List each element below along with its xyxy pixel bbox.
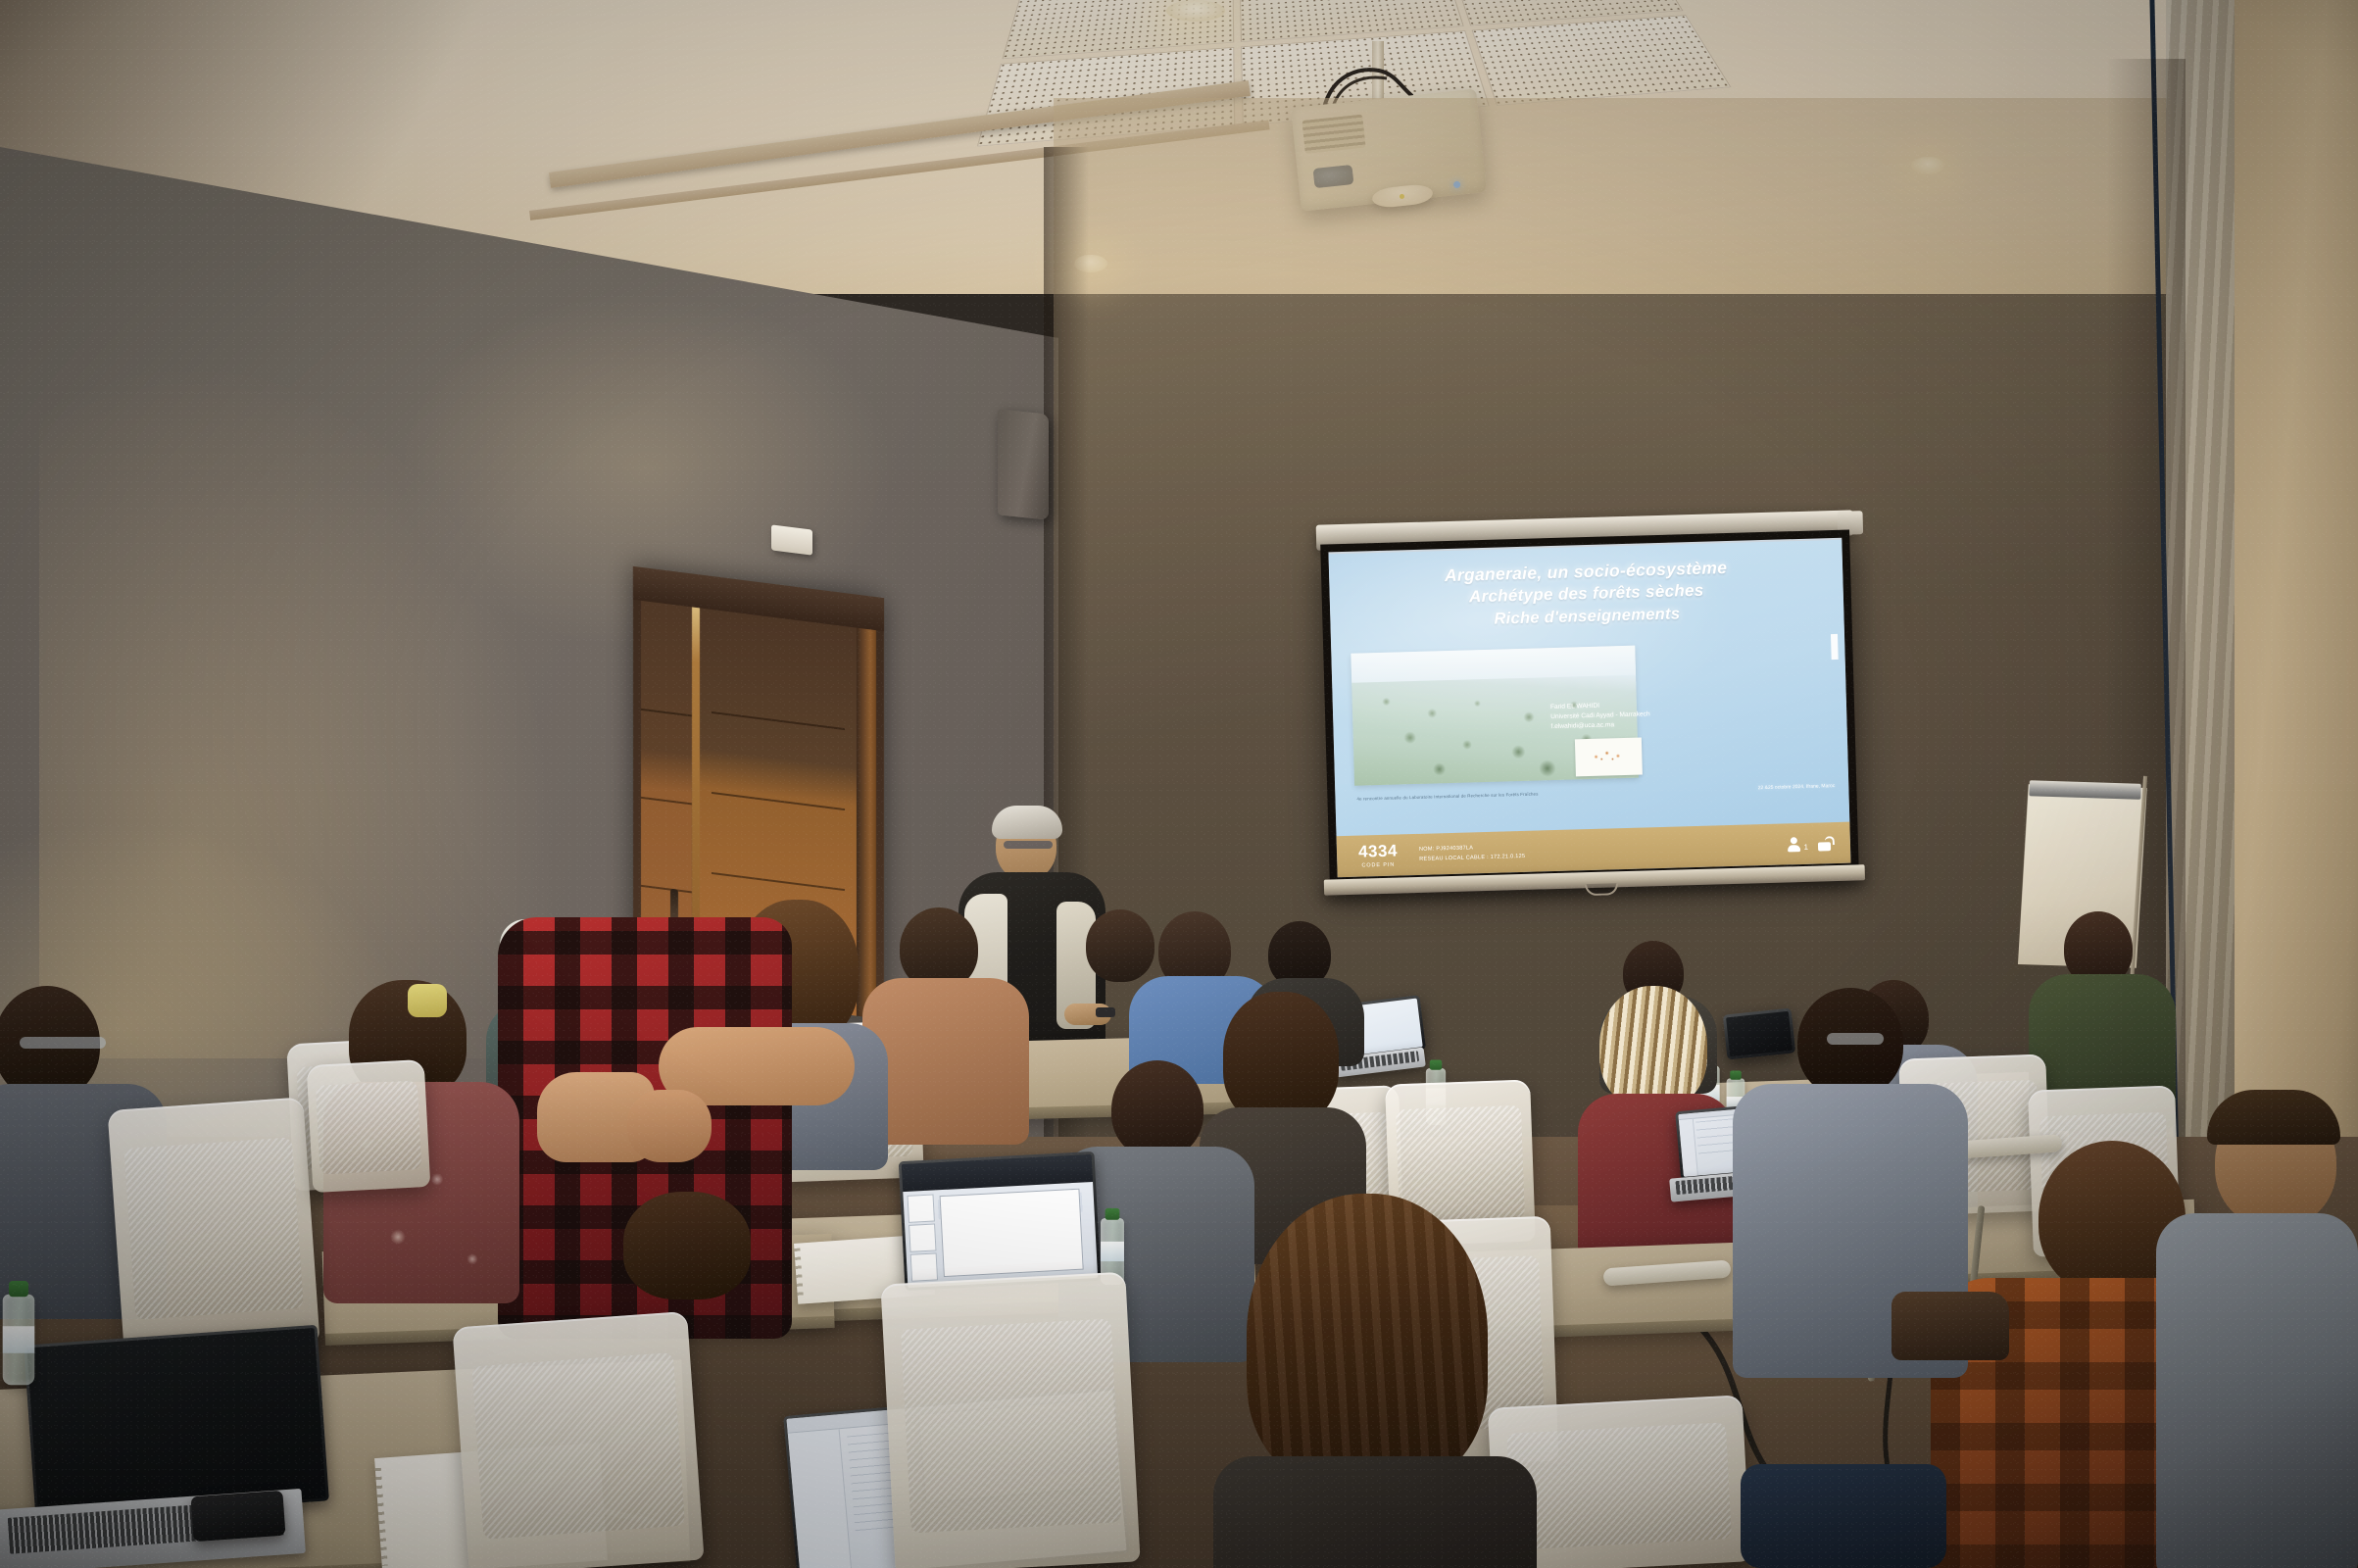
connected-user-count: 1 <box>1803 842 1808 851</box>
presenter-glasses <box>1004 841 1053 849</box>
bottle[interactable] <box>3 1295 35 1386</box>
screen-pull-hook[interactable] <box>1585 883 1618 896</box>
audience-hair <box>2207 1090 2340 1145</box>
screen-frame: Arganeraie, un socio-écosystème Archétyp… <box>1320 530 1859 886</box>
chair[interactable] <box>307 1059 431 1193</box>
laptop-presentation-editor[interactable] <box>899 1151 1102 1291</box>
foreground-hair <box>1247 1194 1488 1488</box>
unlocked-padlock-icon <box>1818 836 1835 851</box>
slide-photo-caption: 4e rencontre annuelle du Laboratoire Int… <box>1356 788 1650 801</box>
projector-pin-block: 4334 CODE PIN <box>1337 842 1420 870</box>
audience-member <box>1068 909 1176 1027</box>
slide-logo <box>1575 738 1643 777</box>
projector-osd-icons: 1 <box>1787 835 1850 852</box>
user-icon <box>1787 837 1799 852</box>
presenter-hair <box>992 806 1062 839</box>
laptop-lid <box>899 1151 1102 1291</box>
audience-head <box>1086 909 1154 982</box>
audience-torso <box>2156 1213 2358 1568</box>
audience-glasses <box>1827 1033 1884 1045</box>
projected-slide: Arganeraie, un socio-écosystème Archétyp… <box>1328 540 1849 837</box>
projector-pin-label: CODE PIN <box>1337 862 1419 870</box>
plaid-person-hand <box>627 1090 712 1162</box>
wall-sensor-panel <box>771 524 812 555</box>
laptop-screen <box>902 1154 1098 1288</box>
audience-hair-dreadlocks <box>1599 986 1707 1109</box>
ceiling-downlight <box>1166 0 1225 22</box>
slide-title: Arganeraie, un socio-écosystème Archétyp… <box>1329 554 1844 635</box>
audience-member-edge <box>2156 1098 2358 1568</box>
foreground-shoulders <box>1213 1456 1537 1568</box>
audience-glasses <box>20 1037 106 1049</box>
hair-clip <box>408 984 447 1017</box>
audience-head <box>1111 1060 1204 1158</box>
phone[interactable] <box>191 1491 286 1542</box>
projector-info-block: NOM: PJ9240387LA RESEAU LOCAL CABLE : 17… <box>1419 834 1788 864</box>
audience-hair-bun <box>623 1192 751 1299</box>
slide-logo-mark <box>1589 748 1628 762</box>
projector-pin-code: 4334 <box>1337 842 1419 860</box>
audience-member-foreground <box>1213 1194 1537 1568</box>
projection-screen: Arganeraie, un socio-écosystème Archétyp… <box>1320 511 1860 907</box>
chair[interactable] <box>452 1311 704 1568</box>
screenshot-root: Arganeraie, un socio-écosystème Archétyp… <box>0 0 2358 1568</box>
slide-event-date: 22 &25 octobre 2024, Ifrane, Maroc <box>1758 783 1836 791</box>
wall-speaker <box>998 409 1049 519</box>
wall-light-glow <box>39 372 549 1058</box>
screen-surface: Arganeraie, un socio-écosystème Archétyp… <box>1328 538 1850 878</box>
boot <box>1891 1292 2009 1360</box>
backpack <box>1741 1464 1946 1568</box>
slide-side-marker <box>1831 634 1839 660</box>
chair[interactable] <box>108 1097 320 1354</box>
slide-author-block: Farid EL WAHIDI Université Cadi Ayyad - … <box>1550 699 1698 733</box>
chair[interactable] <box>880 1272 1140 1568</box>
